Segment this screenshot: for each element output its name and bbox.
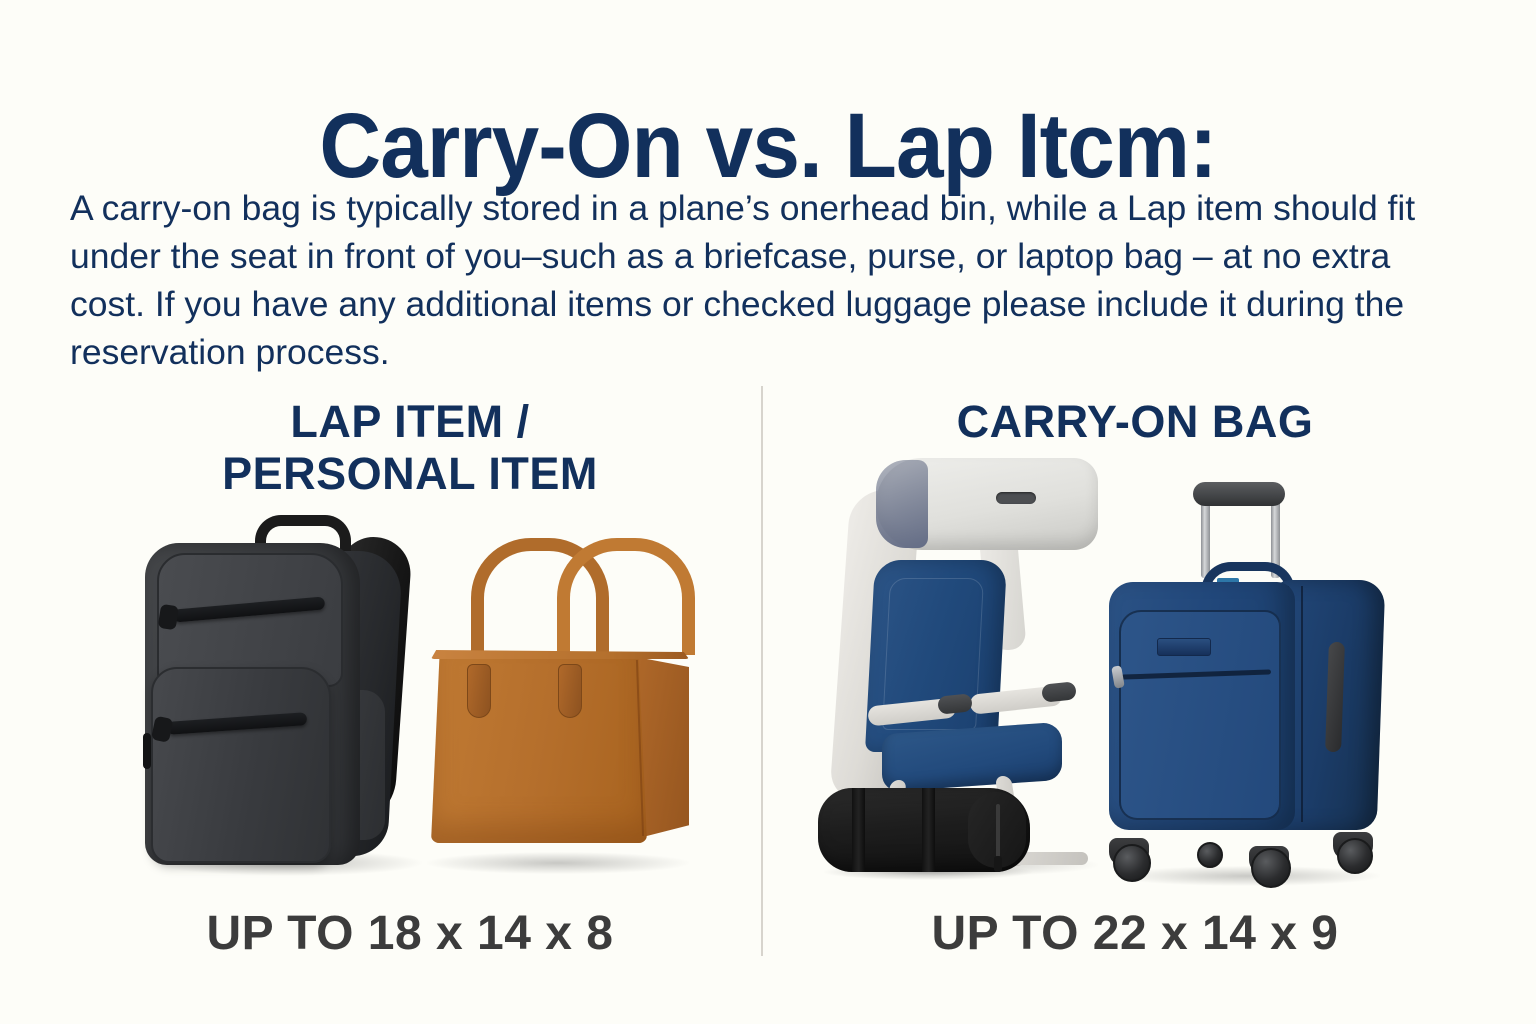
duffel-strap-left [852,788,865,872]
suitcase-wheel-rear-right [1337,838,1373,874]
suitcase-telescoping-grip [1193,482,1285,506]
suitcase-brand-plate [1157,638,1211,656]
seat-headrest-slot [996,492,1036,504]
handbag-illustration [415,528,705,870]
suitcase-wheel-front-right [1251,848,1291,888]
handbag-strap-keeper-left [467,664,491,718]
column-heading-lap-item: LAP ITEM / PERSONAL ITEM [80,396,740,500]
page-title: Carry-On vs. Lap Itcm: [54,100,1482,192]
suitcase-wheel-rear-left [1197,842,1223,868]
suitcase-wheel-front-left [1113,844,1151,882]
seat-armrest-cap-right [1041,681,1077,702]
handbag-shadow [427,852,689,874]
intro-paragraph: A carry-on bag is typically stored in a … [70,184,1470,376]
duffel-side-zipper [996,804,1000,858]
column-heading-carry-on-bag: CARRY-ON BAG [790,396,1480,448]
handbag-main-body [431,653,647,843]
handbag-strap-keeper-right [558,664,582,718]
rolling-suitcase-illustration [1105,482,1395,882]
dimensions-caption-lap-item: UP TO 18 x 14 x 8 [80,906,740,961]
seat-headrest-end-cap [876,460,928,548]
column-heading-line-1: LAP ITEM / [290,396,529,447]
backpack-front-pocket [151,667,331,863]
handbag-handle-right [557,538,695,655]
seat-bottom-cushion [882,722,1062,793]
suitcase-telescoping-bar-left [1201,500,1210,578]
backpack-illustration [145,515,435,870]
duffel-bag-illustration [818,784,1038,876]
infographic-page: Carry-On vs. Lap Itcm: A carry-on bag is… [0,0,1536,1024]
suitcase-shadow [1115,866,1380,886]
suitcase-expansion-seam-3 [1301,586,1303,822]
duffel-strap-right [922,788,935,872]
backpack-zipper-pull [143,733,151,769]
dimensions-caption-carry-on-bag: UP TO 22 x 14 x 9 [790,906,1480,961]
column-divider [761,386,763,956]
column-heading-line-1: CARRY-ON BAG [957,396,1314,447]
column-heading-line-2: PERSONAL ITEM [222,448,598,499]
